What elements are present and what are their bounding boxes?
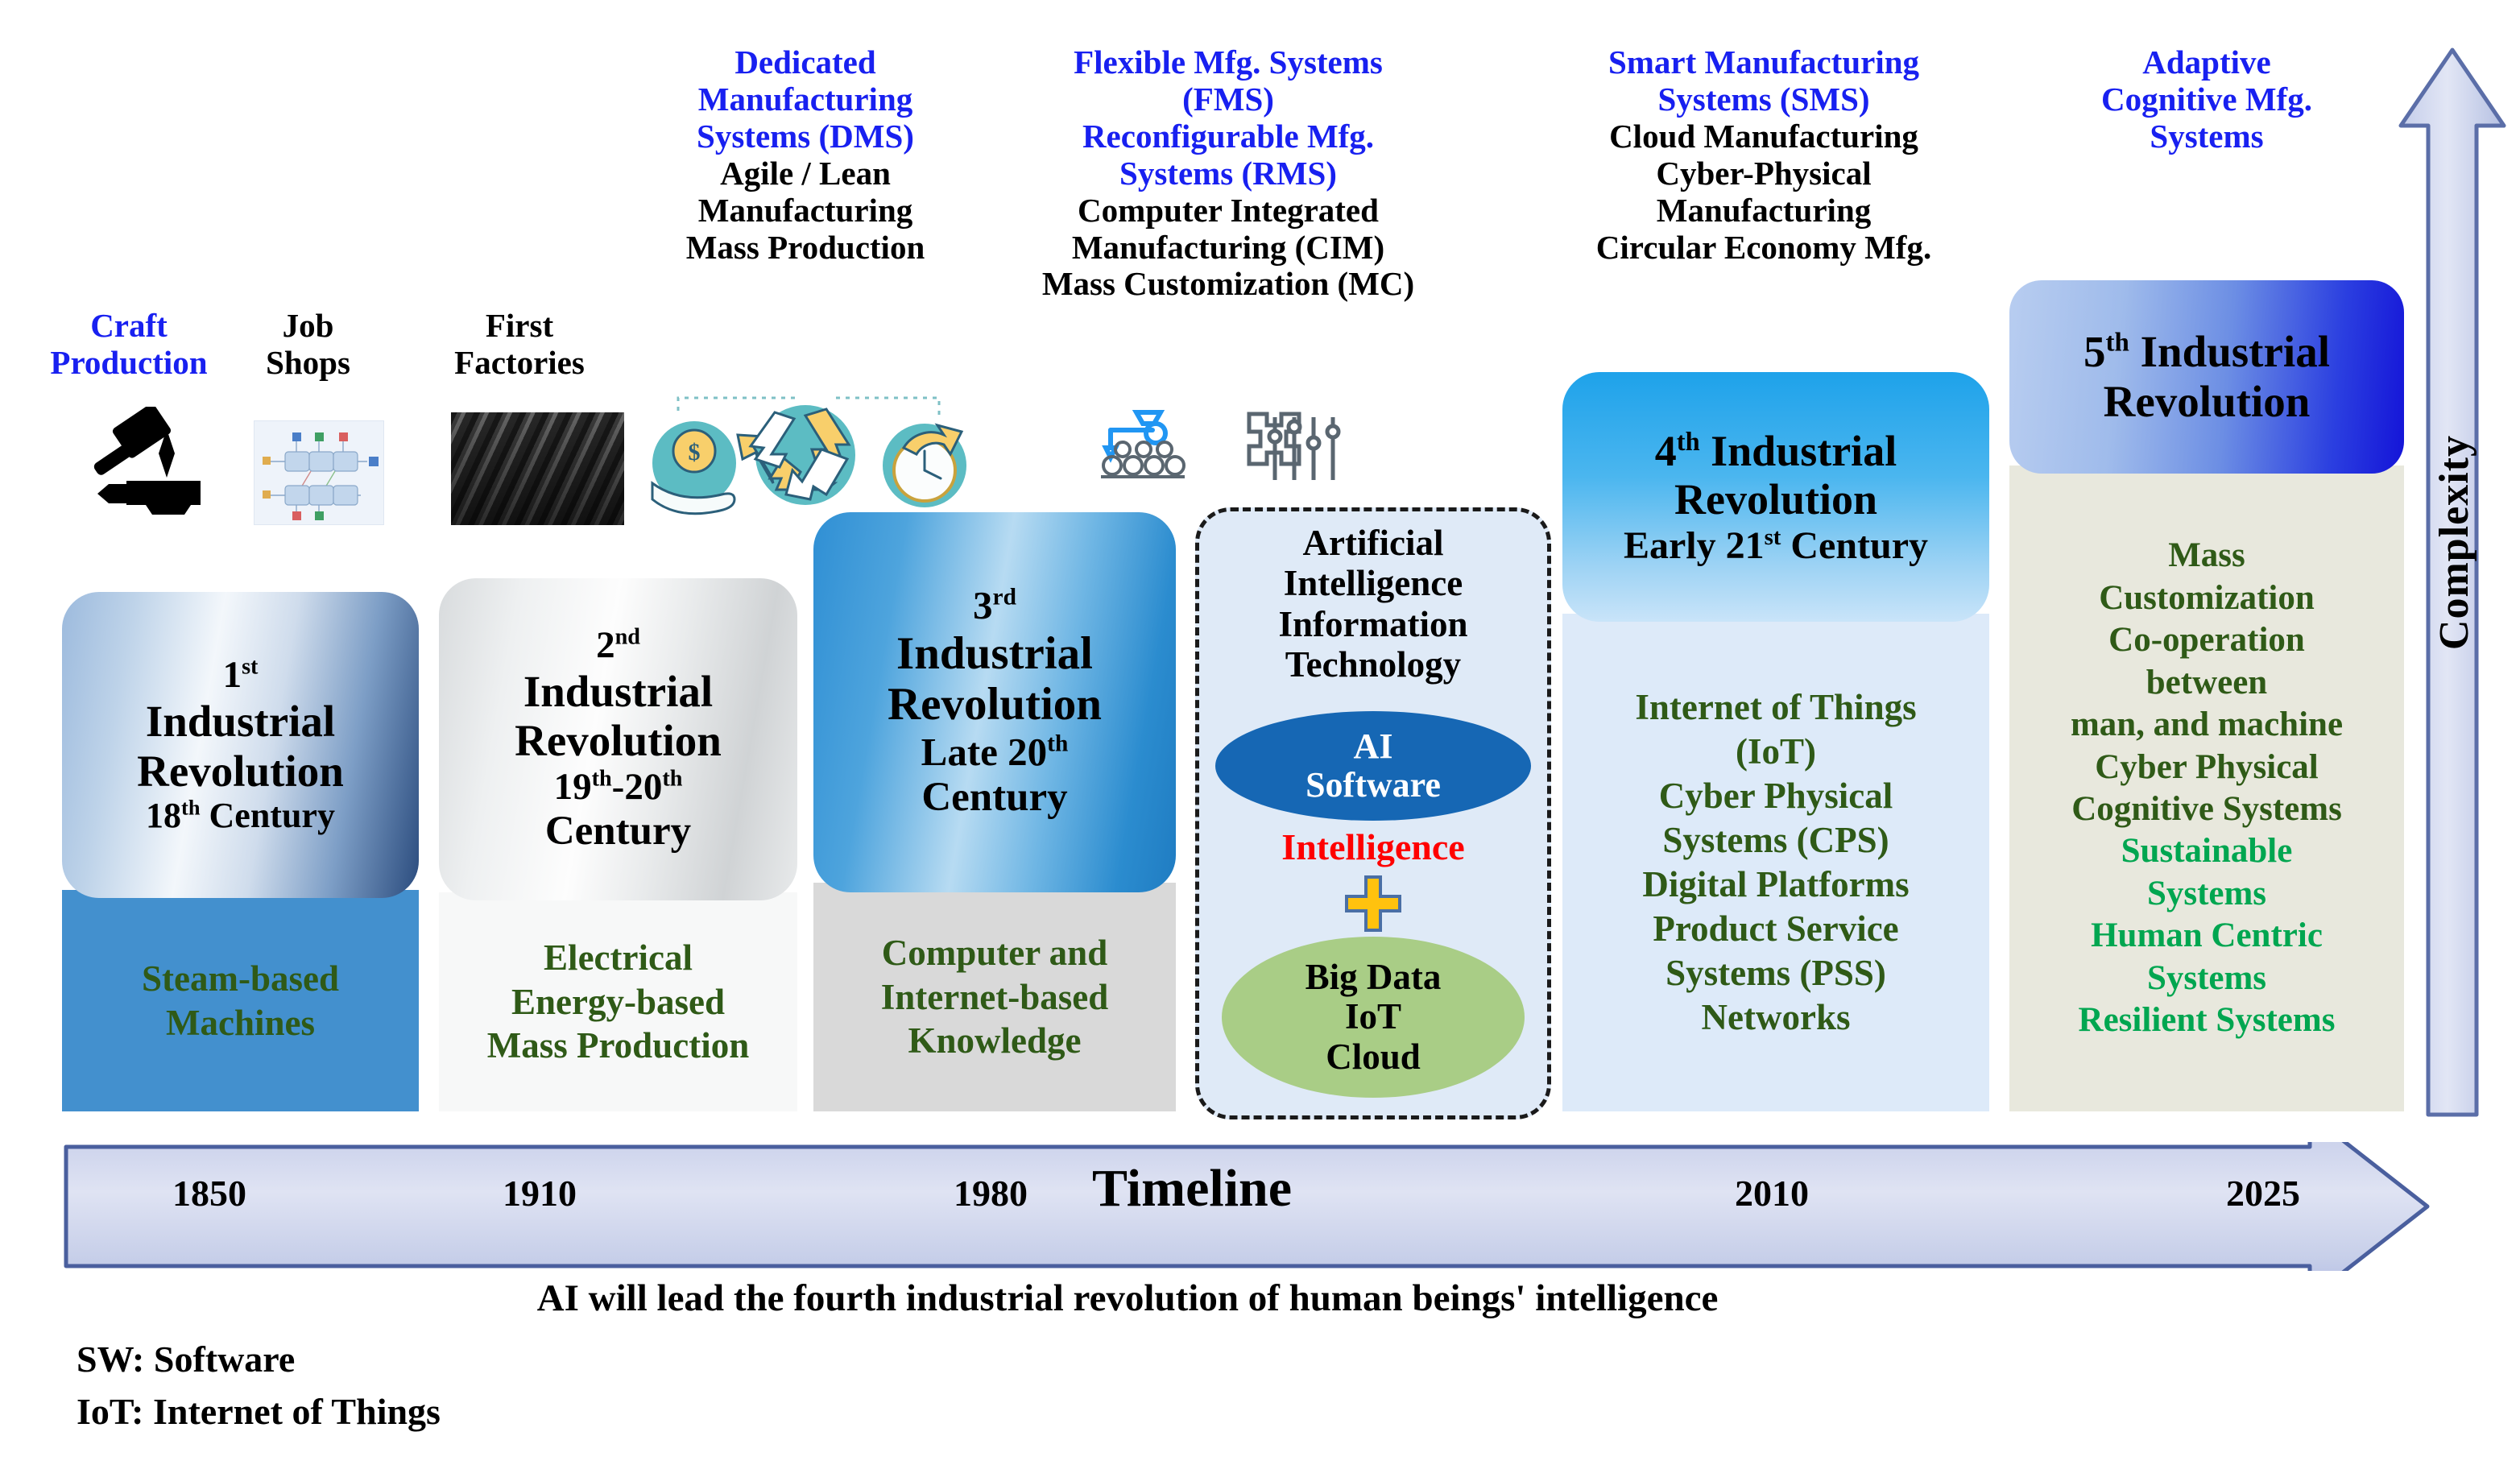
job-shops-network-icon	[254, 420, 384, 525]
era-column-second-industrial-revolution[interactable]: Electrical Energy-based Mass Production …	[439, 578, 797, 1111]
ai-head-line1: Artificial	[1199, 523, 1547, 563]
third-ir-word-revolution: Revolution	[888, 679, 1102, 730]
third-ir-body-line3: Knowledge	[908, 1019, 1081, 1063]
ai-software-ellipse: AI Software	[1215, 711, 1531, 821]
hammer-anvil-icon	[85, 407, 234, 528]
fifth-ir-word-revolution: Revolution	[2104, 377, 2311, 427]
fms-black-1: Computer Integrated	[979, 192, 1478, 230]
fms-blue-2: (FMS)	[979, 81, 1478, 118]
fifth-ir-body-line3: Co-operation	[2108, 619, 2305, 661]
dms-black-1: Agile / Lean	[636, 155, 974, 192]
third-ir-word-industrial: Industrial	[896, 628, 1093, 680]
ai-core-box[interactable]: Artificial Intelligence Information Tech…	[1195, 507, 1551, 1119]
abbreviation-legend: SW: Software IoT: Internet of Things	[77, 1333, 441, 1438]
craft-production-line1: Craft	[32, 308, 226, 345]
label-dms: Dedicated Manufacturing Systems (DMS) Ag…	[636, 44, 974, 266]
fms-icons-group	[1083, 403, 1341, 507]
bigdata-line1: Big Data	[1306, 958, 1442, 998]
second-ir-body-line3: Mass Production	[487, 1024, 749, 1068]
timeline-year-1910: 1910	[451, 1172, 628, 1215]
ai-head-line2: Intelligence	[1199, 563, 1547, 603]
second-ir-body-line1: Electrical	[544, 936, 693, 980]
ai-box-heading: Artificial Intelligence Information Tech…	[1199, 523, 1547, 685]
craft-production-line2: Production	[32, 345, 226, 382]
era-column-fifth-industrial-revolution[interactable]: Mass Customization Co-operation between …	[2009, 280, 2404, 1111]
plus-icon	[1343, 874, 1403, 933]
legend-sw: SW: Software	[77, 1333, 441, 1385]
dms-black-3: Mass Production	[636, 230, 974, 267]
fourth-ir-body-line2: (IoT)	[1736, 730, 1816, 774]
label-fms-rms: Flexible Mfg. Systems (FMS) Reconfigurab…	[979, 44, 1478, 303]
bigdata-iot-cloud-ellipse: Big Data IoT Cloud	[1222, 937, 1525, 1098]
fifth-ir-green-line4: Systems	[2147, 958, 2266, 999]
third-ir-body-line2: Internet-based	[881, 975, 1108, 1020]
first-ir-ordinal: 1st	[223, 654, 259, 697]
fourth-ir-century: Early 21st Century	[1624, 524, 1928, 568]
third-ir-body-line1: Computer and	[882, 931, 1107, 975]
sms-blue-1: Smart Manufacturing	[1514, 44, 2013, 81]
fifth-ir-body-line5: man, and machine	[2071, 704, 2343, 746]
label-adaptive-cognitive: Adaptive Cognitive Mfg. Systems	[2038, 44, 2376, 155]
dms-black-2: Manufacturing	[636, 192, 974, 230]
fms-blue-4: Systems (RMS)	[979, 155, 1478, 192]
fifth-ir-body: Mass Customization Co-operation between …	[2009, 466, 2404, 1111]
fifth-ir-body-line4: between	[2146, 662, 2267, 704]
fourth-ir-ordinal-industrial: 4th Industrial	[1655, 427, 1897, 475]
fifth-ir-body-line6: Cyber Physical	[2095, 747, 2319, 788]
fourth-ir-title: 4th Industrial Revolution Early 21st Cen…	[1562, 372, 1989, 622]
fourth-ir-body-line1: Internet of Things	[1635, 685, 1916, 730]
timeline-title: Timeline	[1039, 1158, 1345, 1219]
sms-black-2: Cyber-Physical	[1514, 155, 2013, 192]
second-ir-body: Electrical Energy-based Mass Production	[439, 892, 797, 1111]
bigdata-line2: IoT	[1345, 997, 1401, 1037]
acms-blue-1: Adaptive	[2038, 44, 2376, 81]
infographic-canvas: Craft Production Job Shops First Factori…	[0, 0, 2520, 1469]
fifth-ir-body-line2: Customization	[2099, 577, 2315, 619]
first-factories-photo	[451, 412, 624, 525]
dms-blue-2: Manufacturing	[636, 81, 974, 118]
label-sms: Smart Manufacturing Systems (SMS) Cloud …	[1514, 44, 2013, 266]
fms-black-2: Manufacturing (CIM)	[979, 230, 1478, 267]
era-column-third-industrial-revolution[interactable]: Computer and Internet-based Knowledge 3r…	[813, 512, 1176, 1111]
timeline-year-1850: 1850	[121, 1172, 298, 1215]
settings-gear-icon	[1249, 414, 1339, 480]
era-column-first-industrial-revolution[interactable]: Steam-based Machines 1st Industrial Revo…	[62, 592, 419, 1111]
ai-head-line4: Technology	[1199, 644, 1547, 685]
first-ir-word-industrial: Industrial	[146, 697, 335, 747]
fifth-ir-green-line3: Human Centric	[2091, 915, 2323, 957]
fifth-ir-green-line5: Resilient Systems	[2079, 999, 2336, 1041]
fourth-ir-body-line7: Systems (PSS)	[1666, 951, 1886, 995]
second-ir-body-line2: Energy-based	[511, 980, 725, 1024]
ai-ellipse-line2: Software	[1306, 766, 1441, 805]
fourth-ir-body-line5: Digital Platforms	[1642, 863, 1909, 907]
fifth-ir-green-line2: Systems	[2147, 873, 2266, 915]
fourth-ir-body-line4: Systems (CPS)	[1662, 818, 1889, 863]
legend-iot: IoT: Internet of Things	[77, 1385, 441, 1438]
label-craft-production: Craft Production	[32, 308, 226, 382]
first-ir-body: Steam-based Machines	[62, 890, 419, 1111]
first-ir-word-revolution: Revolution	[137, 747, 344, 797]
fms-blue-3: Reconfigurable Mfg.	[979, 118, 1478, 155]
fifth-ir-title: 5th Industrial Revolution	[2009, 280, 2404, 474]
svg-text:$: $	[689, 439, 701, 466]
first-factories-line1: First	[427, 308, 612, 345]
fms-blue-1: Flexible Mfg. Systems	[979, 44, 1478, 81]
dms-blue-3: Systems (DMS)	[636, 118, 974, 155]
ai-head-line3: Information	[1199, 604, 1547, 644]
figure-caption: AI will lead the fourth industrial revol…	[242, 1277, 2013, 1320]
label-first-factories: First Factories	[427, 308, 612, 382]
sms-black-4: Circular Economy Mfg.	[1514, 230, 2013, 267]
sms-blue-2: Systems (SMS)	[1514, 81, 2013, 118]
first-ir-title: 1st Industrial Revolution 18th Century	[62, 592, 419, 898]
fms-black-3: Mass Customization (MC)	[979, 266, 1478, 303]
bigdata-line3: Cloud	[1326, 1037, 1421, 1078]
job-shops-line2: Shops	[234, 345, 383, 382]
timeline-year-2025: 2025	[2174, 1172, 2352, 1215]
label-job-shops: Job Shops	[234, 308, 383, 382]
acms-blue-3: Systems	[2038, 118, 2376, 155]
fourth-ir-body-line8: Networks	[1702, 995, 1851, 1040]
ai-ellipse-line1: AI	[1354, 727, 1393, 766]
fifth-ir-ordinal-industrial: 5th Industrial	[2083, 327, 2330, 377]
fifth-ir-green-line1: Sustainable	[2121, 830, 2293, 872]
third-ir-body: Computer and Internet-based Knowledge	[813, 883, 1176, 1111]
first-factories-line2: Factories	[427, 345, 612, 382]
fourth-ir-body: Internet of Things (IoT) Cyber Physical …	[1562, 614, 1989, 1111]
fourth-ir-word-revolution: Revolution	[1674, 475, 1877, 523]
complexity-axis-label: Complexity	[2431, 435, 2478, 650]
third-ir-century-word: Century	[921, 775, 1067, 821]
intelligence-label: Intelligence	[1199, 826, 1547, 868]
third-ir-title: 3rd Industrial Revolution Late 20th Cent…	[813, 512, 1176, 892]
second-ir-century-range: 19th-20th	[554, 766, 683, 809]
timeline-year-2010: 2010	[1683, 1172, 1860, 1215]
second-ir-century-word: Century	[545, 809, 691, 855]
era-column-fourth-industrial-revolution[interactable]: Internet of Things (IoT) Cyber Physical …	[1562, 372, 1989, 1111]
dms-blue-1: Dedicated	[636, 44, 974, 81]
first-ir-body-line2: Machines	[166, 1001, 315, 1045]
second-ir-word-revolution: Revolution	[515, 716, 722, 766]
sms-black-3: Manufacturing	[1514, 192, 2013, 230]
second-ir-word-industrial: Industrial	[523, 667, 713, 717]
third-ir-late-20th: Late 20th	[921, 730, 1069, 775]
job-shops-line1: Job	[234, 308, 383, 345]
acms-blue-2: Cognitive Mfg.	[2038, 81, 2376, 118]
second-ir-title: 2nd Industrial Revolution 19th-20th Cent…	[439, 578, 797, 900]
dms-icons-group: $	[644, 370, 974, 532]
sms-black-1: Cloud Manufacturing	[1514, 118, 2013, 155]
first-ir-body-line1: Steam-based	[142, 957, 339, 1001]
fourth-ir-body-line3: Cyber Physical	[1659, 774, 1893, 818]
fourth-ir-body-line6: Product Service	[1653, 907, 1898, 951]
fifth-ir-body-line1: Mass	[2168, 535, 2245, 577]
fifth-ir-body-line7: Cognitive Systems	[2071, 788, 2342, 830]
first-ir-century: 18th Century	[146, 796, 335, 835]
second-ir-ordinal: 2nd	[596, 624, 640, 667]
third-ir-ordinal: 3rd	[973, 584, 1016, 628]
